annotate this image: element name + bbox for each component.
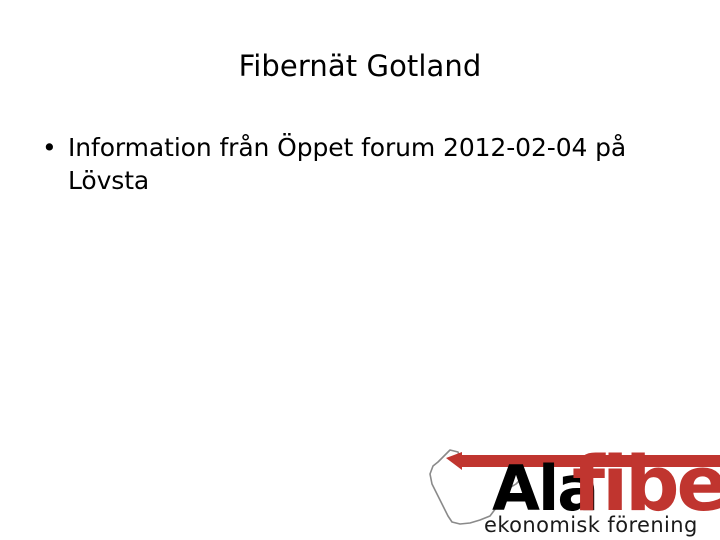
bullet-point-icon: •: [42, 131, 57, 164]
presentation-slide: Fibernät Gotland • Information från Öppe…: [0, 0, 720, 540]
slide-title: Fibernät Gotland: [0, 50, 720, 83]
ala-fiber-logo: Ala fiber ekonomisk förening: [420, 422, 720, 540]
slide-body-list: • Information från Öppet forum 2012-02-0…: [30, 131, 690, 197]
bullet-list-item: • Information från Öppet forum 2012-02-0…: [30, 131, 690, 197]
logo-tagline: ekonomisk förening: [484, 513, 698, 537]
bullet-item-text: Information från Öppet forum 2012-02-04 …: [68, 133, 626, 195]
logo-graphic: Ala fiber ekonomisk förening: [420, 422, 720, 540]
